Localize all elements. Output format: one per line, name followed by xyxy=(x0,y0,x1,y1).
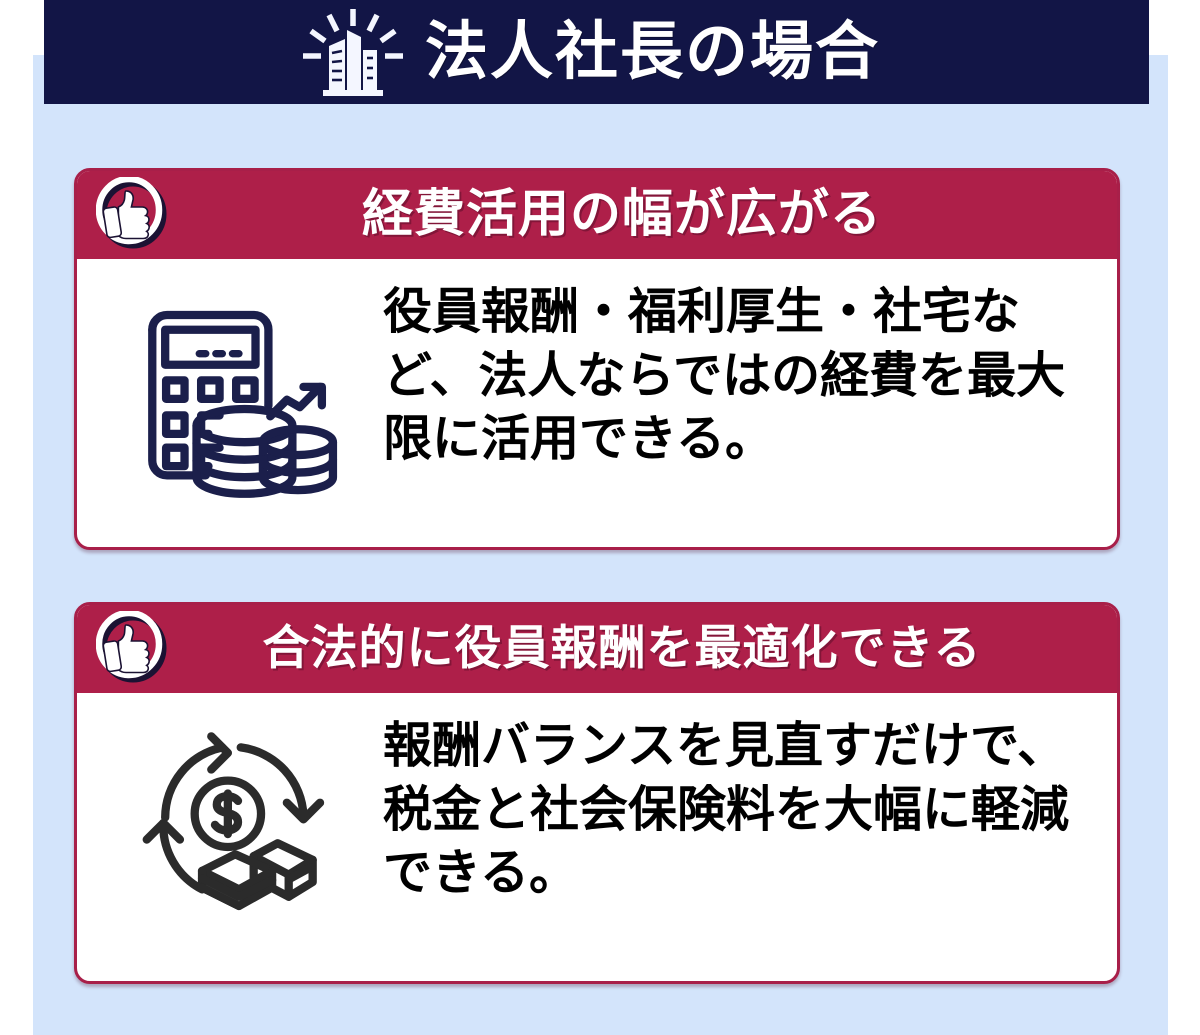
card-body-text: 報酬バランスを見直すだけで、税金と社会保険料を大幅に軽減できる。 xyxy=(383,711,1091,906)
thumbs-up-icon xyxy=(96,177,170,251)
thumbs-up-icon xyxy=(96,611,170,685)
benefit-card: 合法的に役員報酬を最適化できる xyxy=(74,602,1120,984)
card-figure xyxy=(93,711,383,921)
infographic-poster: 法人社長の場合 経費活用の幅が広がる xyxy=(0,0,1200,1035)
calculator-coins-growth-icon xyxy=(132,291,344,503)
banner-title: 法人社長の場合 xyxy=(425,21,880,84)
card-body-text: 役員報酬・福利厚生・社宅など、法人ならではの経費を最大限に活用できる。 xyxy=(383,277,1091,472)
card-body: 役員報酬・福利厚生・社宅など、法人ならではの経費を最大限に活用できる。 xyxy=(77,259,1117,544)
building-shine-icon xyxy=(299,6,407,98)
card-figure xyxy=(93,277,383,503)
card-header: 合法的に役員報酬を最適化できる xyxy=(74,602,1120,693)
card-body: 報酬バランスを見直すだけで、税金と社会保険料を大幅に軽減できる。 xyxy=(77,693,1117,978)
card-header-title: 経費活用の幅が広がる xyxy=(170,188,1120,239)
card-header: 経費活用の幅が広がる xyxy=(74,168,1120,259)
benefit-card: 経費活用の幅が広がる xyxy=(74,168,1120,550)
money-circulation-icon xyxy=(132,725,344,921)
title-banner: 法人社長の場合 xyxy=(44,0,1149,104)
card-header-title: 合法的に役員報酬を最適化できる xyxy=(170,624,1120,671)
